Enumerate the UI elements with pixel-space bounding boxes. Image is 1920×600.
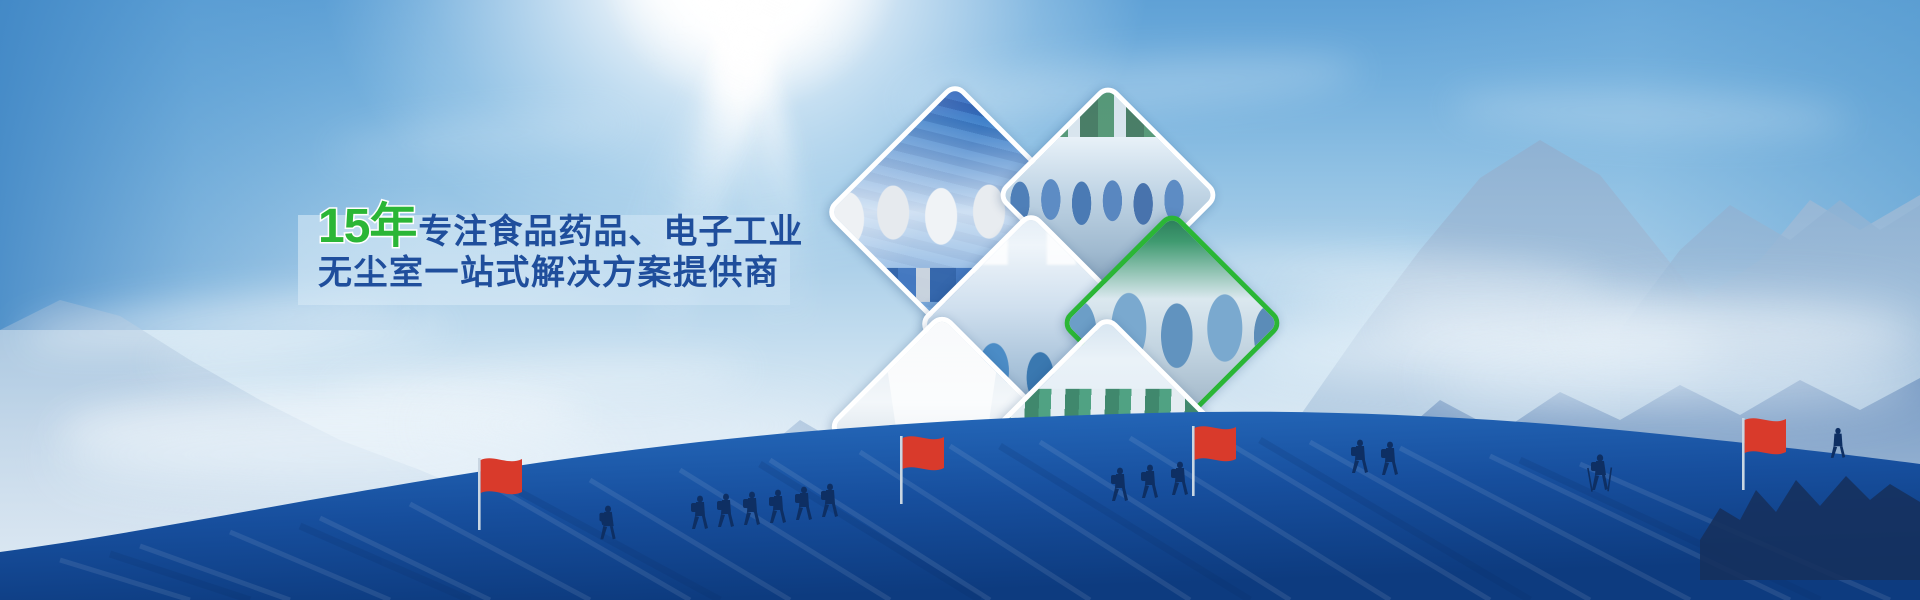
headline-line-1: 15年 专注食品药品、电子工业 (318, 203, 788, 251)
headline-line-2: 无尘室一站式解决方案提供商 (318, 255, 788, 292)
headline-block: 15年 专注食品药品、电子工业 无尘室一站式解决方案提供商 (318, 203, 788, 292)
hero-banner: 15年 专注食品药品、电子工业 无尘室一站式解决方案提供商 (0, 0, 1920, 600)
years-badge: 15年 (318, 203, 416, 251)
foreground-ridge (0, 340, 1920, 600)
headline-line-1-text: 专注食品药品、电子工业 (418, 215, 803, 249)
